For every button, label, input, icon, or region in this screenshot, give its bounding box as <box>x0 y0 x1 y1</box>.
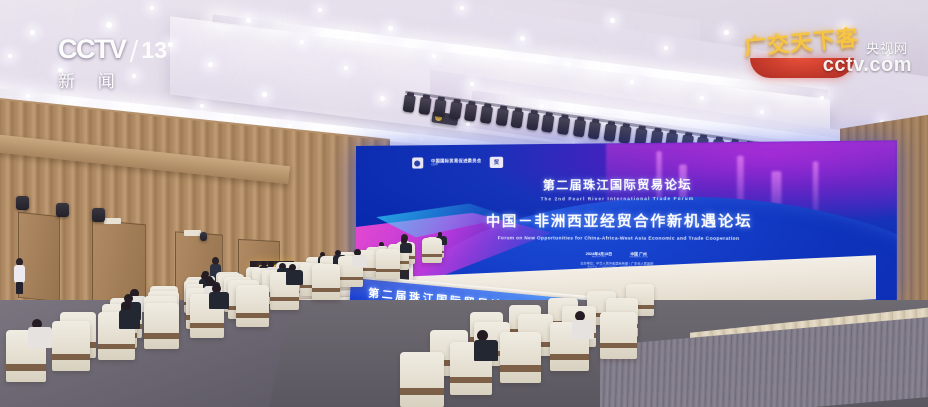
downlight-9 <box>344 66 348 70</box>
audience-seat <box>600 312 637 359</box>
stage-spotlight-10 <box>542 115 555 133</box>
stage-spotlight-9 <box>526 112 539 130</box>
stage-spotlight-3 <box>433 99 446 117</box>
led-sponsor-logos: 中国国际贸易促进委员会 CCPIT 贸 <box>412 157 503 169</box>
cctv-channel-name-cn: 新 闻 <box>58 67 188 92</box>
stage-spotlight-1 <box>403 95 416 113</box>
led-subtitle-cn: 中国－非洲西亚经贸合作新机遇论坛 <box>486 211 753 232</box>
cctv-channel-number: 13 <box>141 37 167 63</box>
wall-speaker-2 <box>56 203 69 217</box>
stage-spotlight-6 <box>480 106 493 124</box>
staff-legs <box>16 282 23 294</box>
led-title-en: The 2nd Pearl River International Trade … <box>541 196 695 202</box>
downlight-14 <box>432 54 436 58</box>
downlight-44 <box>26 94 30 98</box>
led-title-cn: 第二届珠江国际贸易论坛 <box>543 176 692 193</box>
downlight-45 <box>8 54 12 58</box>
downlight-15 <box>380 96 385 101</box>
downlight-16 <box>470 82 474 86</box>
downlight-30 <box>700 96 704 100</box>
downlight-34 <box>540 104 544 108</box>
stage-spotlight-15 <box>619 126 632 144</box>
stage-spotlight-8 <box>511 110 524 128</box>
downlight-23 <box>566 62 570 66</box>
wall-speaker-4 <box>200 232 207 241</box>
downlight-10 <box>262 92 267 97</box>
downlight-7 <box>246 18 251 23</box>
downlight-47 <box>318 8 322 12</box>
seated-attendee <box>473 330 494 356</box>
audience-seat <box>52 321 90 371</box>
seated-attendee <box>571 311 590 335</box>
stage-spotlight-14 <box>603 123 616 141</box>
stage-spotlight-5 <box>464 103 477 121</box>
stage-spotlight-4 <box>449 101 462 119</box>
downlight-8 <box>300 40 304 44</box>
cctv-channel-logo: CCTV 13 新 闻 <box>58 36 188 92</box>
stage-spotlight-7 <box>495 108 508 126</box>
attendee-body <box>474 340 498 361</box>
downlight-13 <box>388 26 393 31</box>
wall-speaker-3 <box>92 208 105 222</box>
cctv-logo-row: CCTV 13 <box>58 36 188 64</box>
audience-seat <box>400 352 444 407</box>
watermark-site-domain: cctv.com <box>823 54 912 77</box>
led-meta-row: 2024年4月18日 April 18, 2024 中国 广州 Guangzho… <box>580 252 653 260</box>
led-meta-place: 中国 广州 Guangzhou, China <box>629 252 648 260</box>
audience-seat <box>500 332 541 383</box>
downlight-32 <box>820 96 824 100</box>
attendee-body <box>28 327 51 348</box>
downlight-25 <box>664 46 668 50</box>
attendee-body <box>400 243 412 253</box>
ccpit-logo-icon <box>412 158 423 169</box>
audience-seat <box>144 303 179 349</box>
downlight-48 <box>460 6 464 10</box>
downlight-22 <box>520 36 525 41</box>
stage-spotlight-2 <box>418 97 431 115</box>
led-date-en: April 18, 2024 <box>586 256 612 259</box>
seated-attendee <box>352 249 365 265</box>
ccpit-logo-text: 中国国际贸易促进委员会 CCPIT <box>431 159 481 167</box>
attendee-body <box>209 292 229 310</box>
attendee-body <box>352 255 367 268</box>
cctv-logo-divider <box>130 40 138 62</box>
door-exit-sign-1 <box>104 218 121 224</box>
audience-seat <box>376 249 400 279</box>
downlight-6 <box>208 62 213 67</box>
downlight-1 <box>30 30 35 35</box>
audience-seat <box>312 264 340 300</box>
led-meta-date: 2024年4月18日 April 18, 2024 <box>586 252 612 260</box>
audience-seat <box>422 238 442 263</box>
cctv-wordmark: CCTV <box>58 34 126 64</box>
downlight-2 <box>106 22 112 28</box>
led-place-en: Guangzhou, China <box>629 257 648 260</box>
program-watermark: 广交天下客 央视网 cctv.com <box>734 28 914 86</box>
downlight-24 <box>610 18 615 23</box>
attendee-body <box>572 320 595 339</box>
led-subtitle-en: Forum on New Opportunities for China-Afr… <box>498 235 740 241</box>
stage-spotlight-11 <box>557 117 570 135</box>
audience-seat <box>236 285 269 327</box>
downlight-46 <box>150 6 154 10</box>
downlight-31 <box>760 110 764 114</box>
stage-spotlight-12 <box>572 119 585 137</box>
secondary-logo-icon: 贸 <box>490 157 503 168</box>
broadcast-screenshot: 中国国际贸易促进委员会 CCPIT 贸 第二届珠江国际贸易论坛 The 2nd … <box>0 0 928 407</box>
attendee-body <box>119 310 140 329</box>
downlight-26 <box>724 30 729 35</box>
staff-body <box>14 265 25 283</box>
stage-spotlight-13 <box>588 121 601 139</box>
downlight-11 <box>200 104 204 108</box>
attendee-body <box>286 270 303 285</box>
wall-speaker-1 <box>16 196 29 210</box>
seated-attendee <box>209 284 226 306</box>
standing-staff-left <box>14 258 25 294</box>
ccpit-logo-en: CCPIT <box>431 163 481 167</box>
seated-attendee <box>118 301 136 325</box>
downlight-49 <box>630 80 634 84</box>
door-exit-sign-2 <box>184 230 201 236</box>
seated-attendee <box>400 238 411 251</box>
seated-attendee <box>286 264 301 283</box>
seated-attendee <box>28 319 48 345</box>
